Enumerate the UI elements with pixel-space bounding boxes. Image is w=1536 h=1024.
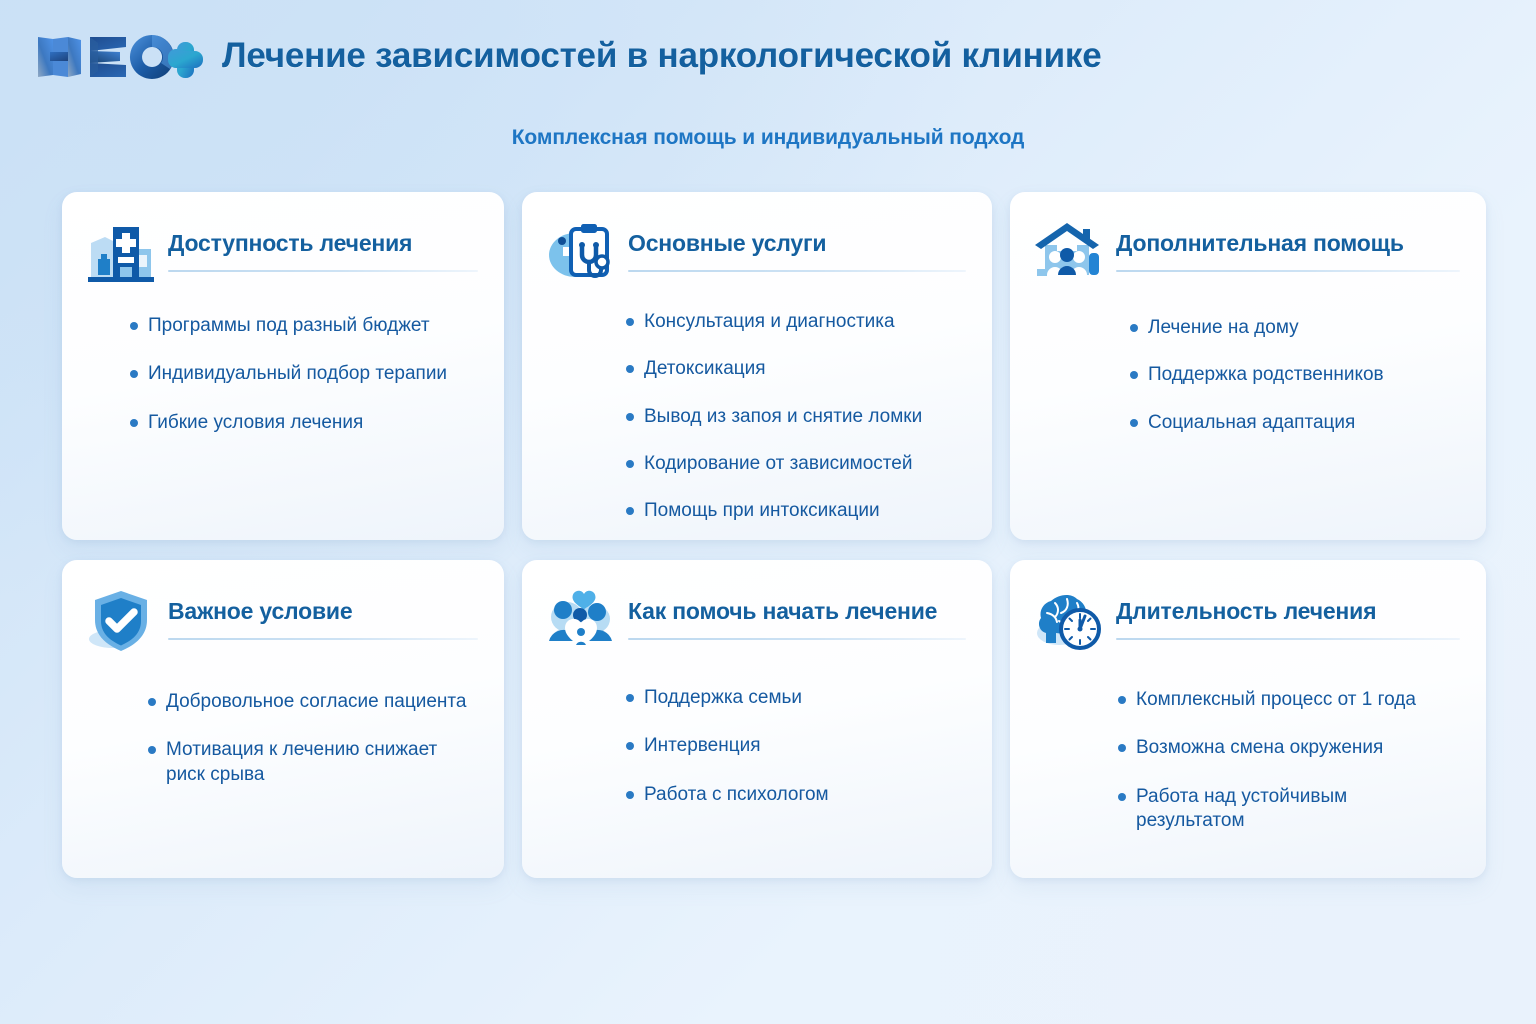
list-item: Интервенция [626,734,966,758]
clipboard-stethoscope-icon [544,216,618,288]
card-vazhnoe-uslovie[interactable]: Важное условие Добровольное согласие пац… [62,560,504,878]
card-header: Дополнительная помощь [1032,216,1460,290]
list-item: Вывод из запоя и снятие ломки [626,405,966,429]
list-item: Добровольное согласие пациента [148,690,478,714]
page-subtitle: Комплексная помощь и индивидуальный подх… [512,126,1025,150]
card-osnovnye-uslugi[interactable]: Основные услуги Консультация и диагности… [522,192,992,540]
card-title-block: Длительность лечения [1116,584,1460,640]
home-family-icon [1032,216,1106,288]
list-item: Комплексный процесс от 1 года [1118,688,1460,712]
list-item: Мотивация к лечению снижает риск срыва [148,738,478,787]
list-item: Программы под разный бюджет [130,314,478,338]
card-header: Как помочь начать лечение [544,584,966,658]
list-item: Детоксикация [626,357,966,381]
list-item: Работа над устойчивым результатом [1118,785,1460,834]
card-title: Основные услуги [628,230,966,257]
hospital-icon [84,216,158,288]
list-item: Социальная адаптация [1130,411,1460,435]
brain-clock-icon [1032,584,1106,656]
list-item: Индивидуальный подбор терапии [130,362,478,386]
card-header: Длительность лечения [1032,584,1460,658]
bullet-list: Консультация и диагностика Детоксикация … [544,310,966,524]
card-title: Важное условие [168,598,478,625]
bullet-list: Комплексный процесс от 1 года Возможна с… [1032,688,1460,833]
title-divider [1116,638,1460,640]
list-item: Помощь при интоксикации [626,499,966,523]
title-divider [1116,270,1460,272]
card-title: Как помочь начать лечение [628,598,966,625]
card-title-block: Основные услуги [628,216,966,272]
card-header: Доступность лечения [84,216,478,290]
card-title-block: Дополнительная помощь [1116,216,1460,272]
list-item: Лечение на дому [1130,316,1460,340]
page-subtitle-container: Комплексная помощь и индивидуальный подх… [0,126,1536,150]
bullet-list: Добровольное согласие пациента Мотивация… [84,690,478,787]
list-item: Поддержка семьи [626,686,966,710]
list-item: Работа с психологом [626,783,966,807]
card-title-block: Важное условие [168,584,478,640]
list-item: Возможна смена окружения [1118,736,1460,760]
bullet-list: Поддержка семьи Интервенция Работа с пси… [544,686,966,807]
title-divider [168,270,478,272]
card-dlitelnost-lecheniya[interactable]: Длительность лечения Комплексный процесс… [1010,560,1486,878]
bullet-list: Программы под разный бюджет Индивидуальн… [84,314,478,435]
list-item: Поддержка родственников [1130,363,1460,387]
card-title-block: Как помочь начать лечение [628,584,966,640]
page-header: Лечение зависимостей в наркологической к… [0,0,1536,112]
list-item: Кодирование от зависимостей [626,452,966,476]
shield-check-icon [84,584,158,656]
title-divider [168,638,478,640]
card-title: Доступность лечения [168,230,478,257]
bullet-list: Лечение на дому Поддержка родственников … [1032,316,1460,435]
neo-plus-logo-icon [34,27,208,85]
card-title: Дополнительная помощь [1116,230,1460,257]
title-divider [628,270,966,272]
list-item: Консультация и диагностика [626,310,966,334]
card-title-block: Доступность лечения [168,216,478,272]
card-header: Важное условие [84,584,478,658]
card-grid: Доступность лечения Программы под разный… [62,192,1474,878]
family-heart-icon [544,584,618,656]
page-title: Лечение зависимостей в наркологической к… [222,36,1102,76]
card-title: Длительность лечения [1116,598,1460,625]
card-dostupnost-lecheniya[interactable]: Доступность лечения Программы под разный… [62,192,504,540]
card-header: Основные услуги [544,216,966,290]
list-item: Гибкие условия лечения [130,411,478,435]
title-divider [628,638,966,640]
card-kak-pomoch-nachat-lechenie[interactable]: Как помочь начать лечение Поддержка семь… [522,560,992,878]
card-dopolnitelnaya-pomoshch[interactable]: Дополнительная помощь Лечение на дому По… [1010,192,1486,540]
